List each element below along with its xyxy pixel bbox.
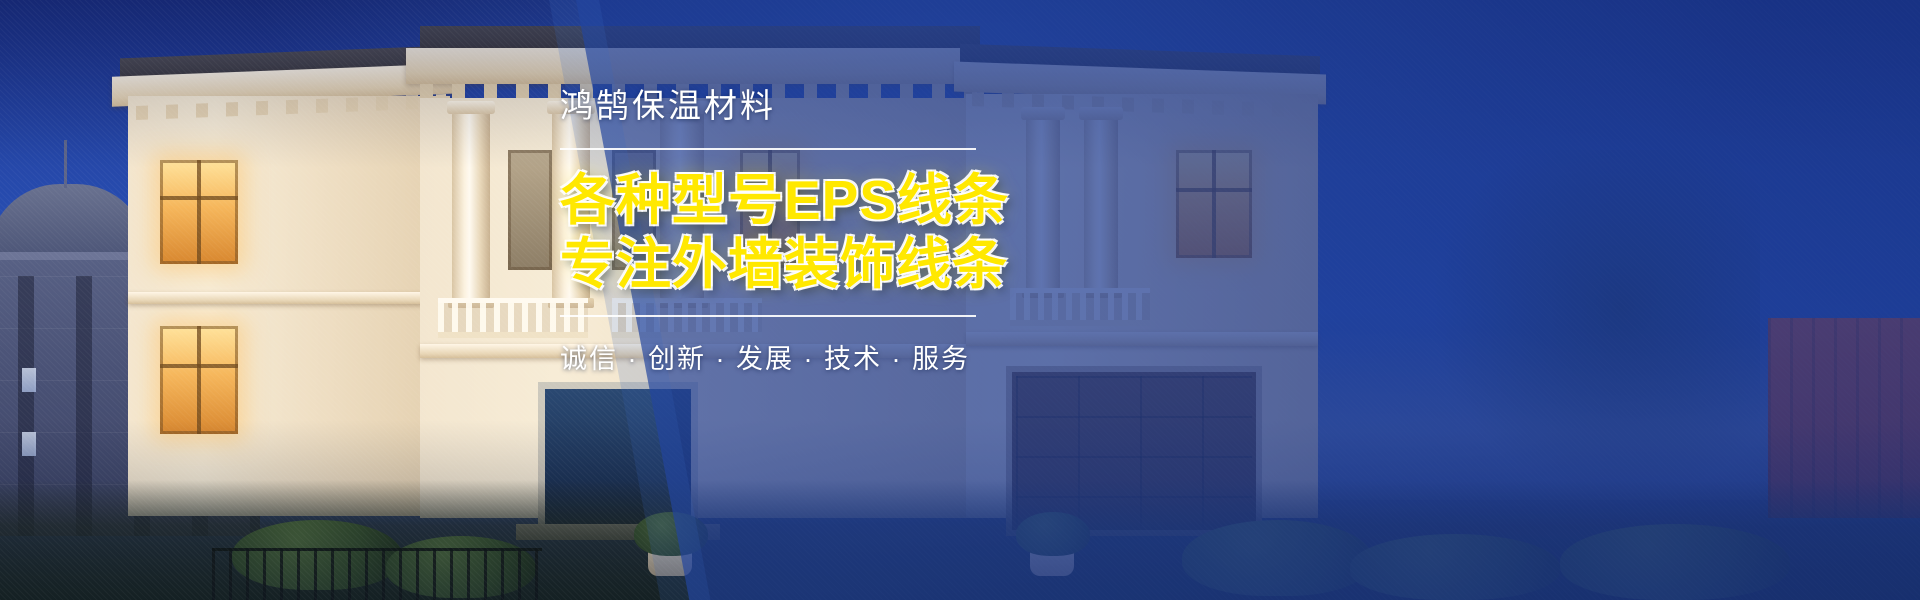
window-mullion [197, 326, 201, 434]
villa-entablature-center [406, 48, 996, 84]
shrub [634, 512, 708, 556]
window-mullion [1212, 150, 1216, 258]
villa-window [160, 160, 238, 264]
iron-railing [212, 548, 542, 600]
roof-mast [64, 140, 67, 188]
shrub [1016, 512, 1090, 556]
divider-bottom [560, 315, 976, 317]
window-mullion [160, 364, 238, 368]
villa-column [1026, 118, 1060, 290]
villa-window [508, 150, 552, 270]
hero-banner: 鸿鹄保温材料 各种型号EPS线条 专注外墙装饰线条 诚信 · 创新 · 发展 ·… [0, 0, 1920, 600]
shrub [1560, 524, 1790, 600]
lit-window [22, 432, 36, 456]
window-mullion [160, 196, 238, 200]
lit-window [22, 368, 36, 392]
villa-window [1176, 150, 1252, 258]
window-mullion [197, 160, 201, 264]
villa-wall-left [128, 96, 450, 516]
brand-name: 鸿鹄保温材料 [560, 86, 1020, 126]
villa-balustrade [1010, 288, 1150, 326]
villa-column [1084, 118, 1118, 290]
tagline: 诚信 · 创新 · 发展 · 技术 · 服务 [560, 337, 1020, 376]
headline-line-2: 专注外墙装饰线条 [560, 232, 1020, 297]
shrub [1350, 534, 1560, 600]
shrub [1182, 520, 1372, 596]
window-mullion [1176, 188, 1252, 192]
villa-window [160, 326, 238, 434]
villa-band-left [128, 292, 450, 304]
headline-line-1: 各种型号EPS线条 [560, 168, 1020, 233]
villa-column [452, 112, 490, 300]
divider-top [560, 148, 976, 150]
tree-silhouette [1430, 150, 1760, 510]
banner-copy: 鸿鹄保温材料 各种型号EPS线条 专注外墙装饰线条 诚信 · 创新 · 发展 ·… [560, 86, 1020, 376]
